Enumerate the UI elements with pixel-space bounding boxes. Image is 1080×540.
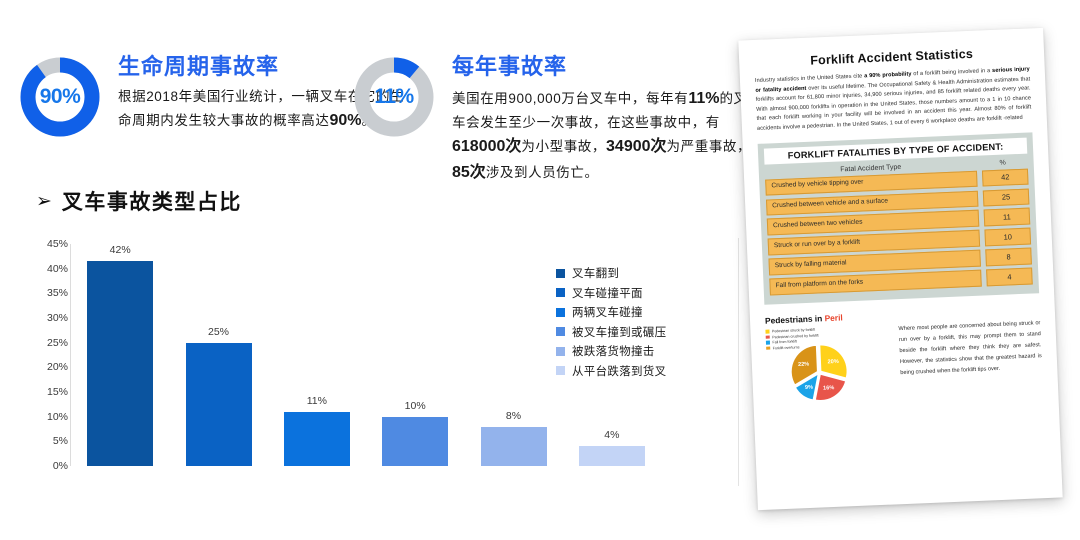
bar[interactable] xyxy=(284,412,350,466)
pie-slice-label: 22% xyxy=(798,361,809,367)
pie-svg: 20%16%9%22% xyxy=(784,340,863,405)
bar[interactable] xyxy=(481,427,547,466)
legend-swatch-icon xyxy=(556,288,565,297)
legend-item-label: 被叉车撞到或碾压 xyxy=(572,324,666,340)
y-axis-tick: 30% xyxy=(22,312,68,324)
y-axis-tick: 45% xyxy=(22,238,68,250)
pie-legend-swatch-icon xyxy=(766,346,770,350)
pie-legend-swatch-icon xyxy=(766,335,770,339)
donut-chart-annual: 11% xyxy=(352,55,436,139)
column-header-pct: % xyxy=(980,158,1026,167)
slide-root: 90% 生命周期事故率 根据2018年美国行业统计，一辆叉车在它的生命周期内发生… xyxy=(0,0,1080,540)
y-axis-tick: 20% xyxy=(22,361,68,373)
kpi-text-annual: 每年事故率 美国在用900,000万台叉车中，每年有11%的叉车会发生至少一次事… xyxy=(452,55,752,186)
bar[interactable] xyxy=(87,261,153,466)
y-axis-tick: 10% xyxy=(22,411,68,423)
chart-y-axis: 0%5%10%15%20%25%30%35%40%45% xyxy=(22,244,68,466)
legend-item[interactable]: 从平台跌落到货叉 xyxy=(556,363,666,379)
pedestrians-text-column: Where most people are concerned about be… xyxy=(898,318,1043,400)
legend-swatch-icon xyxy=(556,327,565,336)
cell-percent: 42 xyxy=(982,168,1029,186)
bar[interactable] xyxy=(186,343,252,466)
bar-group[interactable]: 42% xyxy=(87,244,153,466)
bar-value-label: 10% xyxy=(405,400,426,412)
legend-swatch-icon xyxy=(556,269,565,278)
legend-item[interactable]: 被跌落货物撞击 xyxy=(556,343,666,359)
pedestrians-paragraph: Where most people are concerned about be… xyxy=(898,318,1042,378)
bar-value-label: 11% xyxy=(307,395,327,407)
y-axis-tick: 40% xyxy=(22,263,68,275)
pie-slice-label: 9% xyxy=(805,384,813,390)
bar-group[interactable]: 10% xyxy=(382,244,448,466)
reference-document: Forklift Accident Statistics Industry st… xyxy=(748,34,1066,516)
bar-value-label: 8% xyxy=(506,410,521,422)
y-axis-tick: 35% xyxy=(22,287,68,299)
donut-chart-lifecycle: 90% xyxy=(18,55,102,139)
bar[interactable] xyxy=(579,446,645,466)
document-title: Forklift Accident Statistics xyxy=(754,44,1029,70)
legend-item[interactable]: 叉车翻到 xyxy=(556,265,666,281)
document-card: Forklift Accident Statistics Industry st… xyxy=(738,28,1062,510)
legend-item[interactable]: 叉车碰撞平面 xyxy=(556,285,666,301)
fatalities-table-body: Crushed by vehicle tipping over42Crushed… xyxy=(765,168,1033,295)
donut-percent-label-annual: 11% xyxy=(352,55,436,139)
pedestrians-pie-chart: 20%16%9%22% xyxy=(784,339,894,405)
legend-item-label: 叉车翻到 xyxy=(572,265,619,281)
y-axis-tick: 25% xyxy=(22,337,68,349)
panel-divider xyxy=(738,238,739,486)
chart-legend: 叉车翻到叉车碰撞平面两辆叉车碰撞被叉车撞到或碾压被跌落货物撞击从平台跌落到货叉 xyxy=(556,265,666,379)
legend-item-label: 两辆叉车碰撞 xyxy=(572,304,643,320)
bar-value-label: 25% xyxy=(208,326,229,338)
legend-item-label: 叉车碰撞平面 xyxy=(572,285,643,301)
pie-legend-swatch-icon xyxy=(765,330,769,334)
document-intro-paragraph: Industry statistics in the United States… xyxy=(755,65,1032,134)
pie-legend-swatch-icon xyxy=(766,341,770,345)
y-axis-tick: 15% xyxy=(22,386,68,398)
y-axis-tick: 5% xyxy=(22,435,68,447)
cell-percent: 11 xyxy=(984,208,1031,226)
bar-value-label: 4% xyxy=(604,429,619,441)
kpi-title-annual: 每年事故率 xyxy=(452,55,752,79)
kpi-body-annual: 美国在用900,000万台叉车中，每年有11%的叉车会发生至少一次事故，在这些事… xyxy=(452,86,752,186)
bar[interactable] xyxy=(382,417,448,466)
bar-group[interactable]: 8% xyxy=(481,244,547,466)
cell-percent: 8 xyxy=(985,248,1032,266)
pedestrians-heading-main: Pedestrians in xyxy=(765,313,825,325)
legend-item[interactable]: 两辆叉车碰撞 xyxy=(556,304,666,320)
legend-item-label: 被跌落货物撞击 xyxy=(572,343,655,359)
cell-percent: 25 xyxy=(983,188,1030,206)
kpi-annual: 11% 每年事故率 美国在用900,000万台叉车中，每年有11%的叉车会发生至… xyxy=(352,55,752,186)
y-axis-tick: 0% xyxy=(22,460,68,472)
fatalities-table: FORKLIFT FATALITIES BY TYPE OF ACCIDENT:… xyxy=(758,132,1040,305)
pie-slice-label: 16% xyxy=(823,385,834,391)
pedestrians-heading-highlight: Peril xyxy=(824,313,843,324)
section-heading-label: 叉车事故类型占比 xyxy=(62,186,242,216)
legend-item-label: 从平台跌落到货叉 xyxy=(572,363,666,379)
legend-swatch-icon xyxy=(556,308,565,317)
pedestrians-body: Pedestrian struck by forkliftPedestrian … xyxy=(765,318,1043,406)
cell-percent: 4 xyxy=(986,268,1033,286)
section-heading: ➢ 叉车事故类型占比 xyxy=(36,186,242,216)
bar-group[interactable]: 11% xyxy=(284,244,350,466)
legend-swatch-icon xyxy=(556,347,565,356)
legend-item[interactable]: 被叉车撞到或碾压 xyxy=(556,324,666,340)
pie-slice-label: 20% xyxy=(827,359,838,365)
bar-value-label: 42% xyxy=(110,244,131,256)
pedestrians-chart-column: Pedestrian struck by forkliftPedestrian … xyxy=(765,325,893,407)
kpi-lifecycle: 90% 生命周期事故率 根据2018年美国行业统计，一辆叉车在它的生命周期内发生… xyxy=(18,55,408,139)
chevron-right-icon: ➢ xyxy=(36,192,52,211)
legend-swatch-icon xyxy=(556,366,565,375)
cell-percent: 10 xyxy=(984,228,1031,246)
donut-percent-label-lifecycle: 90% xyxy=(18,55,102,139)
bar-group[interactable]: 25% xyxy=(186,244,252,466)
